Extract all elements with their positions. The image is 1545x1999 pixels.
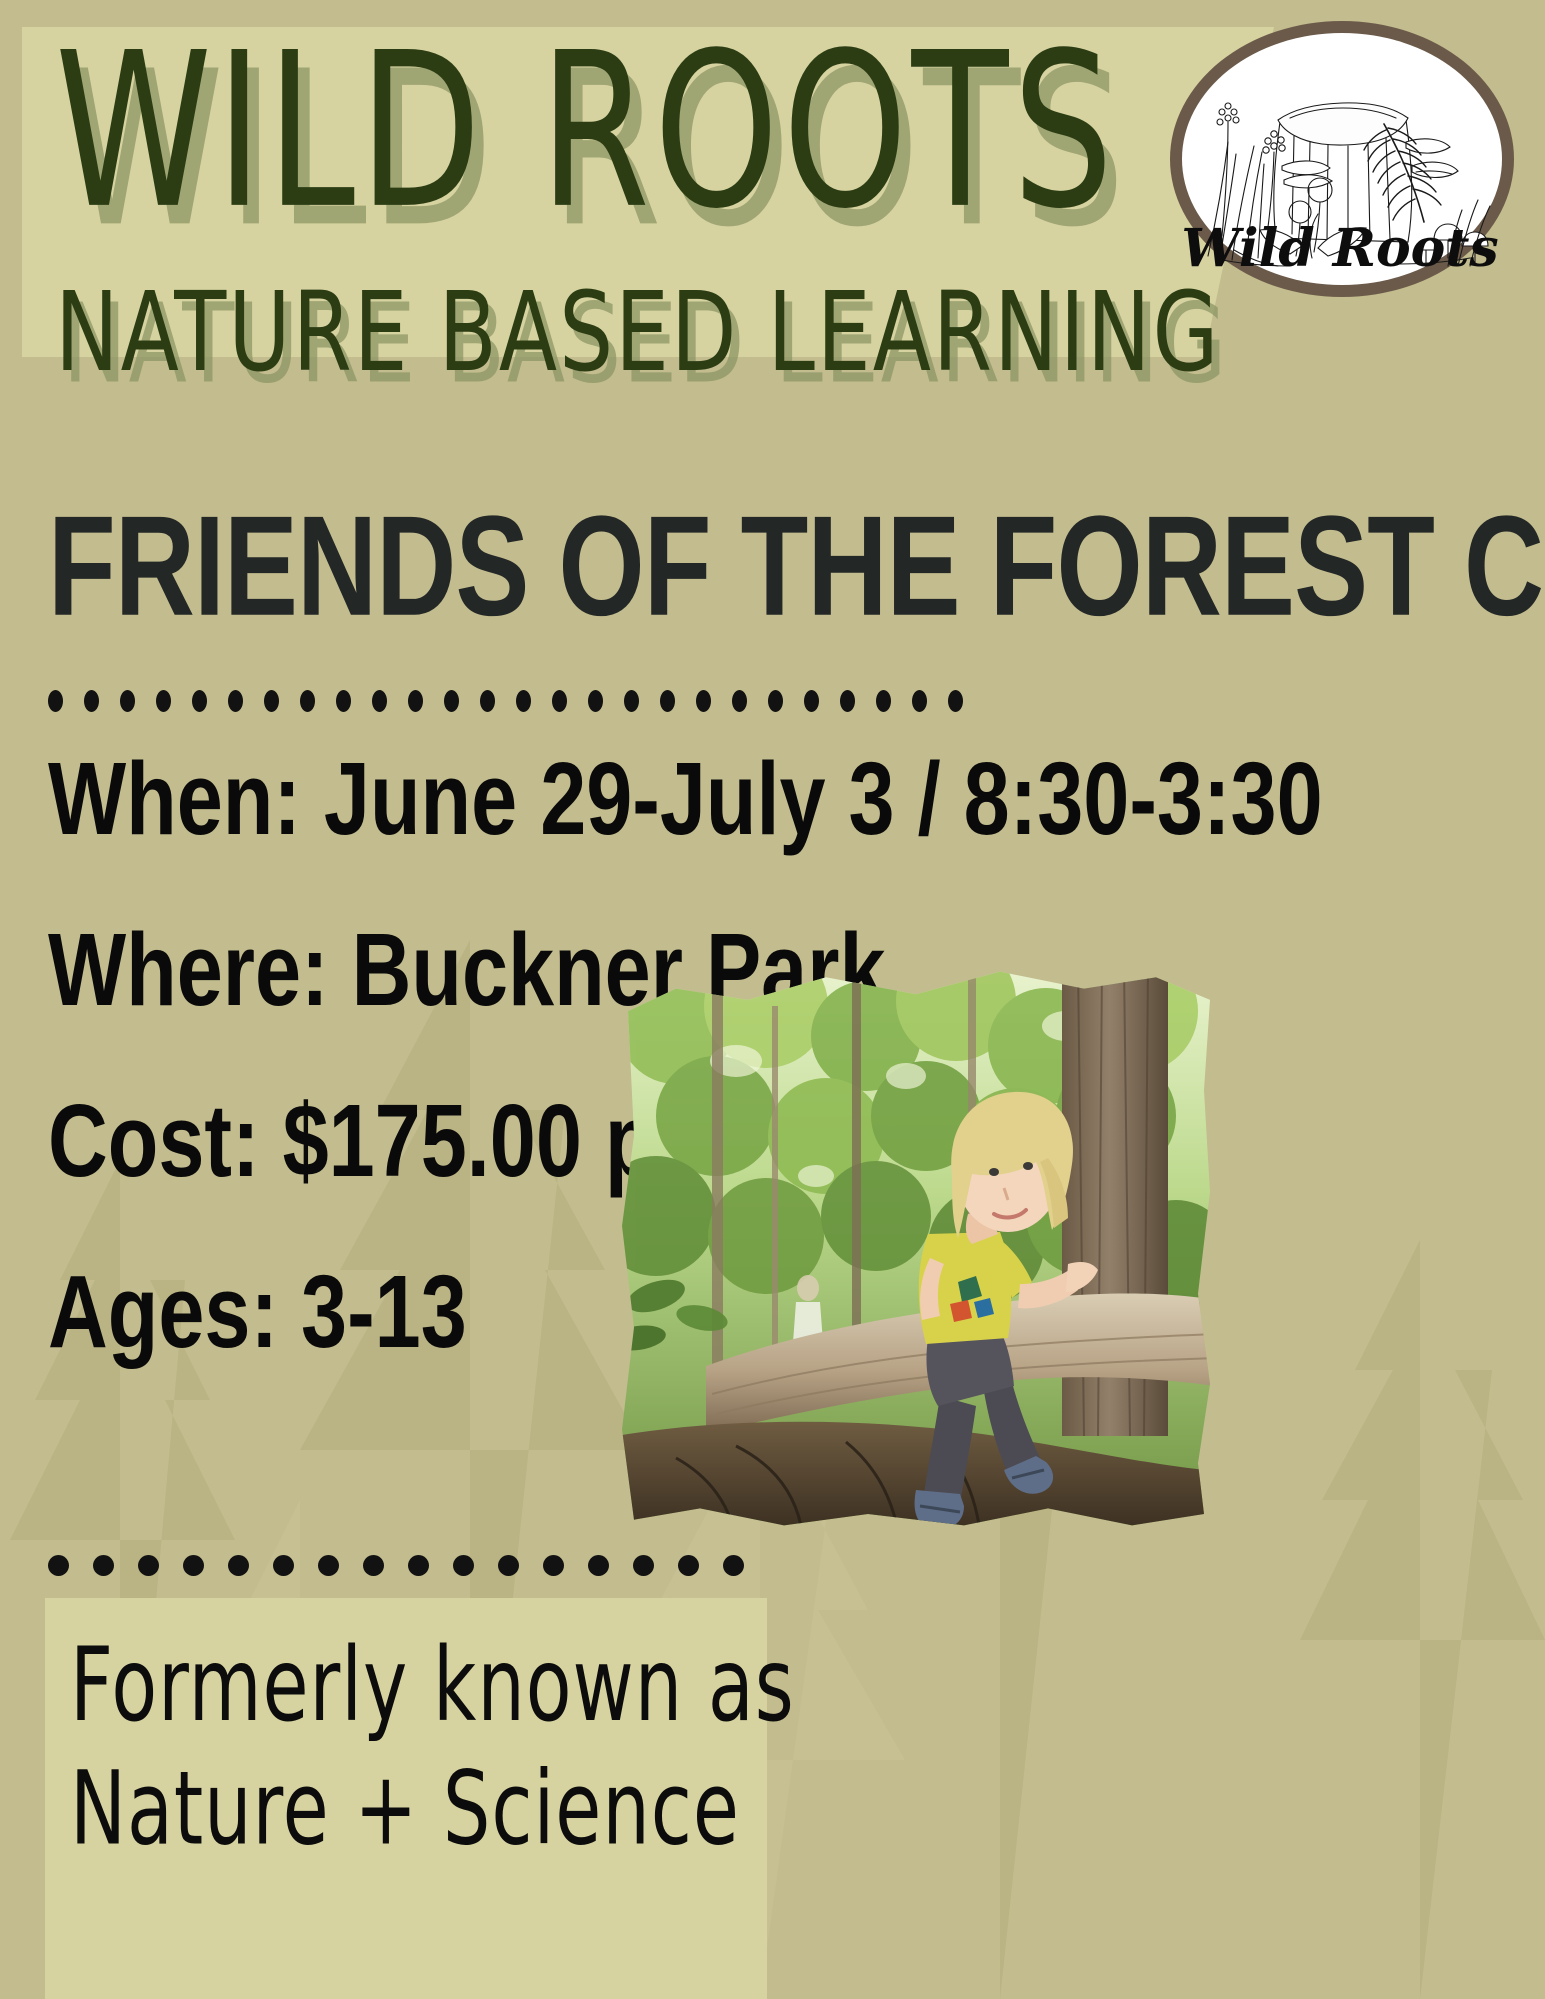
brand-name: WILD ROOTS	[55, 32, 1153, 235]
logo-script-text: Wild Roots	[1181, 218, 1498, 279]
divider-dot	[120, 690, 135, 712]
divider-dot	[183, 1555, 204, 1576]
poster-root: WILD ROOTS NATURE BASED LEARNING	[0, 0, 1545, 1999]
divider-dot	[588, 690, 603, 712]
divider-dot	[624, 690, 639, 712]
divider-dot	[408, 690, 423, 712]
divider-dot	[723, 1555, 744, 1576]
divider-dot	[48, 690, 63, 712]
camp-photo-image	[616, 966, 1216, 1531]
divider-dot	[696, 690, 711, 712]
divider-dot	[156, 690, 171, 712]
brand-lockup: WILD ROOTS NATURE BASED LEARNING	[55, 32, 1175, 364]
divider-dot	[660, 690, 675, 712]
divider-dot	[732, 690, 747, 712]
divider-dot	[300, 690, 315, 712]
divider-dot	[948, 690, 963, 712]
divider-dot	[264, 690, 279, 712]
divider-dot	[228, 690, 243, 712]
divider-dot	[876, 690, 891, 712]
divider-dot	[408, 1555, 429, 1576]
divider-dot	[192, 690, 207, 712]
divider-dot	[480, 690, 495, 712]
divider-dot	[228, 1555, 249, 1576]
divider-dot	[912, 690, 927, 712]
former-name-line-2: Nature + Science	[70, 1749, 723, 1873]
divider-dot	[678, 1555, 699, 1576]
divider-dot	[768, 690, 783, 712]
detail-when: When: June 29-July 3 / 8:30-3:30	[48, 748, 1038, 851]
wild-roots-logo[interactable]: Wild Roots	[1162, 14, 1522, 304]
dotted-divider-bottom	[48, 1555, 744, 1576]
former-name-text: Formerly known as Nature + Science	[70, 1625, 723, 1872]
divider-dot	[804, 690, 819, 712]
divider-dot	[444, 690, 459, 712]
divider-dot	[273, 1555, 294, 1576]
divider-dot	[840, 690, 855, 712]
camp-photo	[616, 966, 1216, 1531]
divider-dot	[498, 1555, 519, 1576]
divider-dot	[318, 1555, 339, 1576]
divider-dot	[336, 690, 351, 712]
divider-dot	[84, 690, 99, 712]
divider-dot	[363, 1555, 384, 1576]
divider-dot	[588, 1555, 609, 1576]
brand-tagline: NATURE BASED LEARNING	[55, 278, 1164, 388]
divider-dot	[543, 1555, 564, 1576]
divider-dot	[516, 690, 531, 712]
divider-dot	[138, 1555, 159, 1576]
dotted-divider-top	[48, 690, 963, 712]
divider-dot	[453, 1555, 474, 1576]
divider-dot	[48, 1555, 69, 1576]
former-name-line-1: Formerly known as	[70, 1625, 723, 1749]
logo-illustration: Wild Roots	[1162, 14, 1522, 304]
divider-dot	[552, 690, 567, 712]
divider-dot	[633, 1555, 654, 1576]
page-title: FRIENDS OF THE FOREST CAMP	[48, 495, 1298, 637]
divider-dot	[372, 690, 387, 712]
divider-dot	[93, 1555, 114, 1576]
